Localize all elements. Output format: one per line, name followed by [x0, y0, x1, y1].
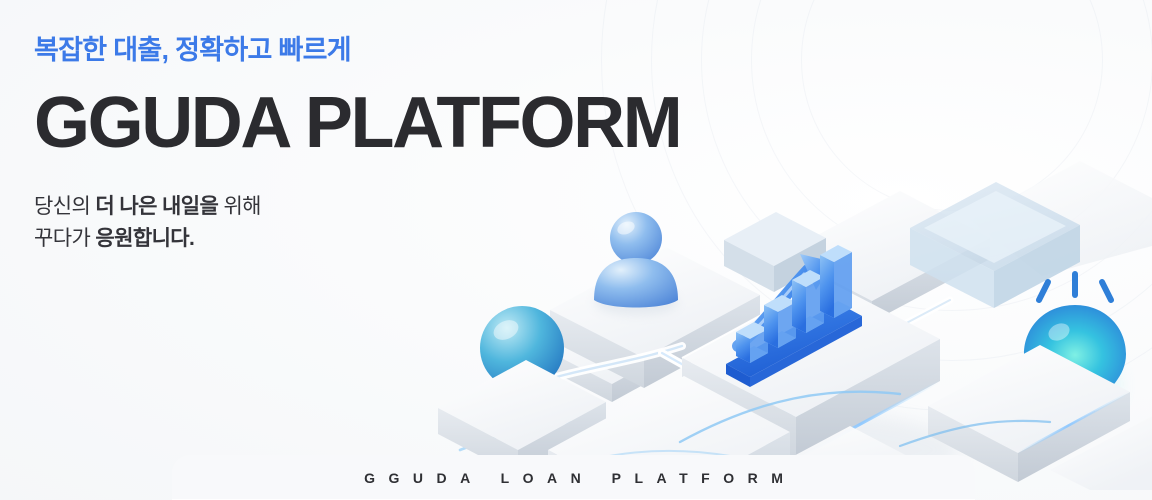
subtitle-l1-c: 위해: [218, 195, 261, 218]
subtitle-l1-a: 당신의: [34, 195, 95, 218]
hero-banner: 복잡한 대출, 정확하고 빠르게 GGUDA PLATFORM 당신의 더 나은…: [0, 0, 1152, 500]
eyebrow-text: 복잡한 대출, 정확하고 빠르게: [34, 34, 674, 66]
bottom-label-bar: GGUDA LOAN PLATFORM: [172, 455, 975, 500]
page-title: GGUDA PLATFORM: [34, 87, 674, 159]
subtitle-line-2: 꾸다가 응원합니다.: [34, 223, 674, 255]
subtitle-l2-a: 꾸다가: [34, 227, 95, 250]
subtitle-l2-b: 응원합니다.: [95, 227, 194, 250]
hero-copy: 복잡한 대출, 정확하고 빠르게 GGUDA PLATFORM 당신의 더 나은…: [34, 34, 674, 255]
hero-subtitle: 당신의 더 나은 내일을 위해 꾸다가 응원합니다.: [34, 191, 674, 255]
subtitle-line-1: 당신의 더 나은 내일을 위해: [34, 191, 674, 223]
bottom-bar-text: GGUDA LOAN PLATFORM: [351, 470, 797, 486]
subtitle-l1-b: 더 나은 내일을: [95, 195, 218, 218]
